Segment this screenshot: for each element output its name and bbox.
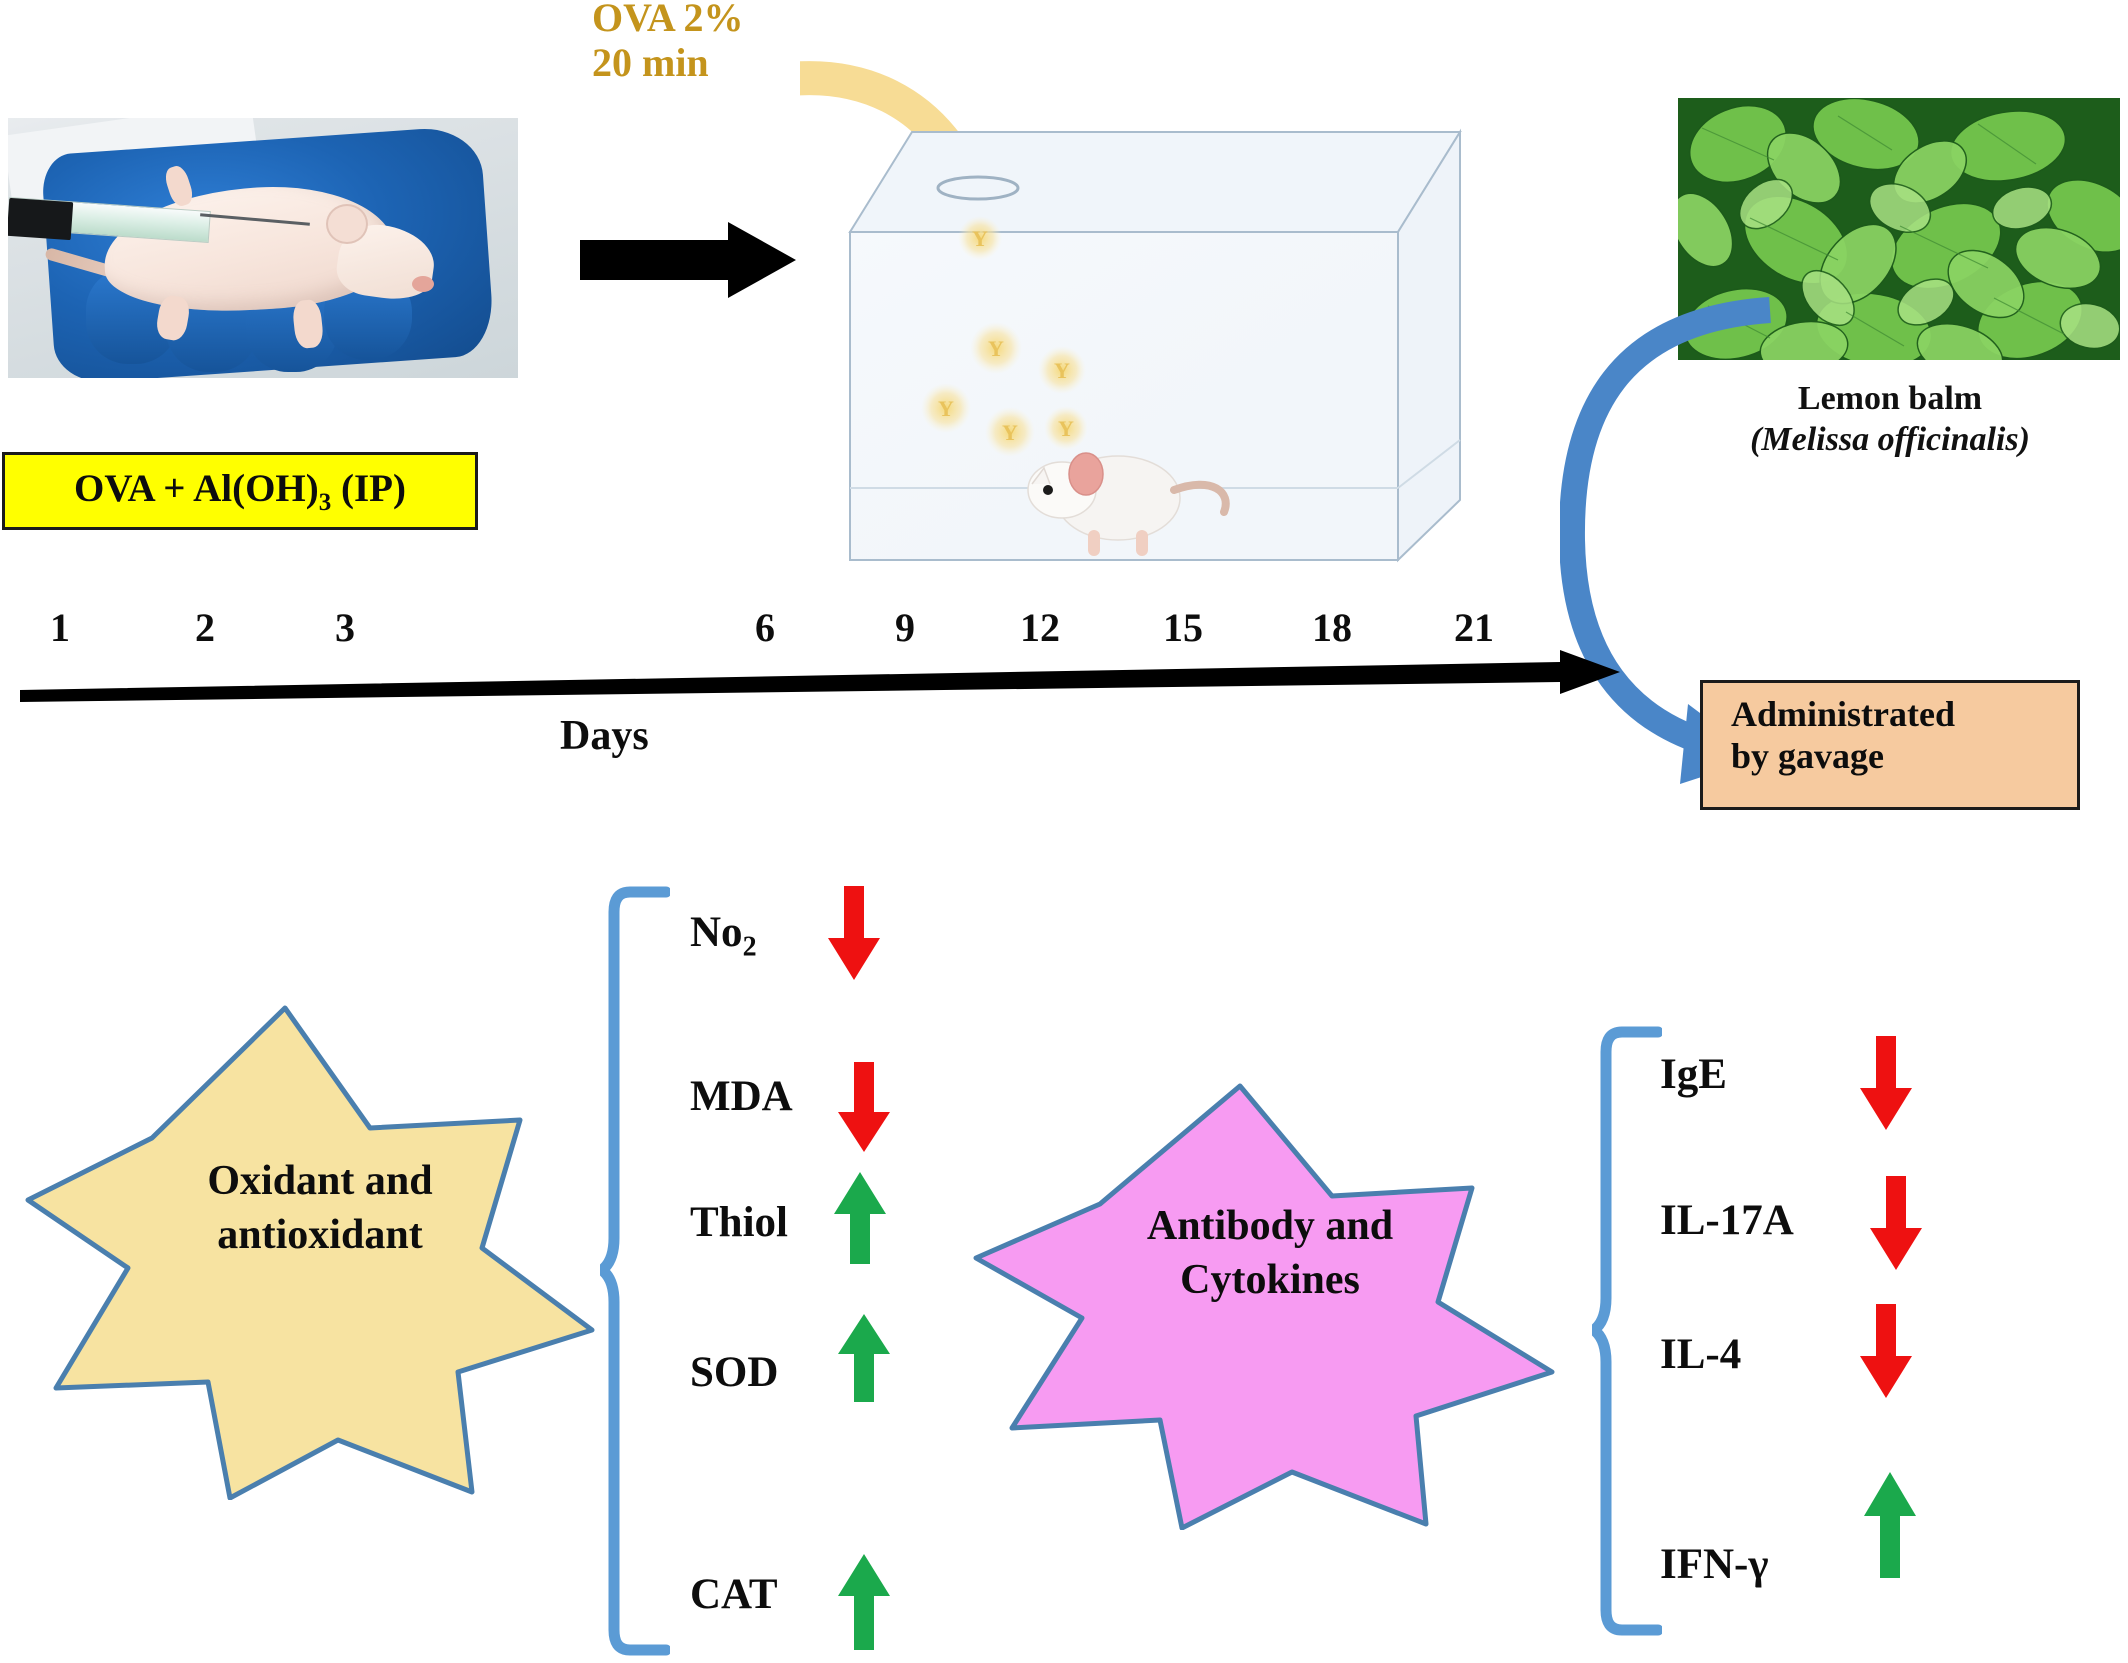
timeline-day-12: 12 xyxy=(1010,604,1070,651)
gavage-line2: by gavage xyxy=(1731,735,2077,777)
marker-arrow-up-cat xyxy=(836,1552,892,1652)
ova-dose-line1: OVA 2% xyxy=(592,0,892,41)
marker-label-no2: No2 xyxy=(690,908,757,964)
gavage-administration-box: Administrated by gavage xyxy=(1700,680,2080,810)
marker-label-thiol: Thiol xyxy=(690,1198,788,1247)
marker-label-mda: MDA xyxy=(690,1072,793,1121)
timeline-axis-arrow xyxy=(20,648,1620,708)
timeline-day-2: 2 xyxy=(175,604,235,651)
ova-adjuvant-label: OVA + Al(OH)3 (IP) xyxy=(74,466,406,517)
rat-injection-photo xyxy=(8,118,518,378)
svg-text:Y: Y xyxy=(972,226,988,251)
timeline-day-21: 21 xyxy=(1444,604,1504,651)
timeline-day-18: 18 xyxy=(1302,604,1362,651)
marker-label-ige: IgE xyxy=(1660,1050,1727,1099)
marker-arrow-down-il4 xyxy=(1858,1304,1914,1400)
svg-text:Y: Y xyxy=(1002,420,1018,445)
timeline-day-6: 6 xyxy=(735,604,795,651)
timeline-day-1: 1 xyxy=(30,604,90,651)
marker-label-sod: SOD xyxy=(690,1348,778,1397)
svg-text:Y: Y xyxy=(938,396,954,421)
marker-arrow-down-mda xyxy=(836,1062,892,1154)
timeline-day-15: 15 xyxy=(1153,604,1213,651)
marker-arrow-up-thiol xyxy=(832,1170,888,1266)
cytokine-star-label: Antibody and Cytokines xyxy=(1060,1200,1480,1308)
ova-adjuvant-route: (IP) xyxy=(331,467,406,510)
gavage-line1: Administrated xyxy=(1731,693,2077,735)
marker-label-cat: CAT xyxy=(690,1570,778,1619)
timeline-day-3: 3 xyxy=(315,604,375,651)
marker-label-il4: IL-4 xyxy=(1660,1330,1741,1379)
oxidant-star-label: Oxidant and antioxidant xyxy=(110,1155,530,1263)
nebulization-chamber-icon: YY YY YY xyxy=(800,60,1480,600)
process-arrow-icon xyxy=(580,222,796,298)
marker-label-il17a: IL-17A xyxy=(1660,1196,1794,1245)
marker-arrow-up-ifng xyxy=(1862,1470,1918,1580)
oxidant-label-line1: Oxidant and xyxy=(110,1155,530,1209)
oxidant-label-line2: antioxidant xyxy=(110,1209,530,1263)
marker-arrow-down-no2 xyxy=(826,886,882,982)
svg-text:Y: Y xyxy=(1054,358,1070,383)
oxidant-group-brace xyxy=(600,886,670,1656)
cytokine-label-line2: Cytokines xyxy=(1060,1254,1480,1308)
marker-arrow-up-sod xyxy=(836,1312,892,1404)
svg-text:Y: Y xyxy=(1058,416,1074,441)
svg-text:Y: Y xyxy=(988,336,1004,361)
ova-adjuvant-text: OVA + Al(OH) xyxy=(74,467,319,510)
marker-arrow-down-ige xyxy=(1858,1036,1914,1132)
cytokine-label-line1: Antibody and xyxy=(1060,1200,1480,1254)
cytokine-group-brace xyxy=(1592,1026,1662,1636)
ova-adjuvant-box: OVA + Al(OH)3 (IP) xyxy=(2,452,478,530)
marker-arrow-down-il17a xyxy=(1868,1176,1924,1272)
marker-label-ifng: IFN-γ xyxy=(1660,1540,1769,1589)
ova-adjuvant-subscript: 3 xyxy=(319,488,332,515)
timeline-axis-label: Days xyxy=(560,712,649,760)
timeline-day-9: 9 xyxy=(875,604,935,651)
